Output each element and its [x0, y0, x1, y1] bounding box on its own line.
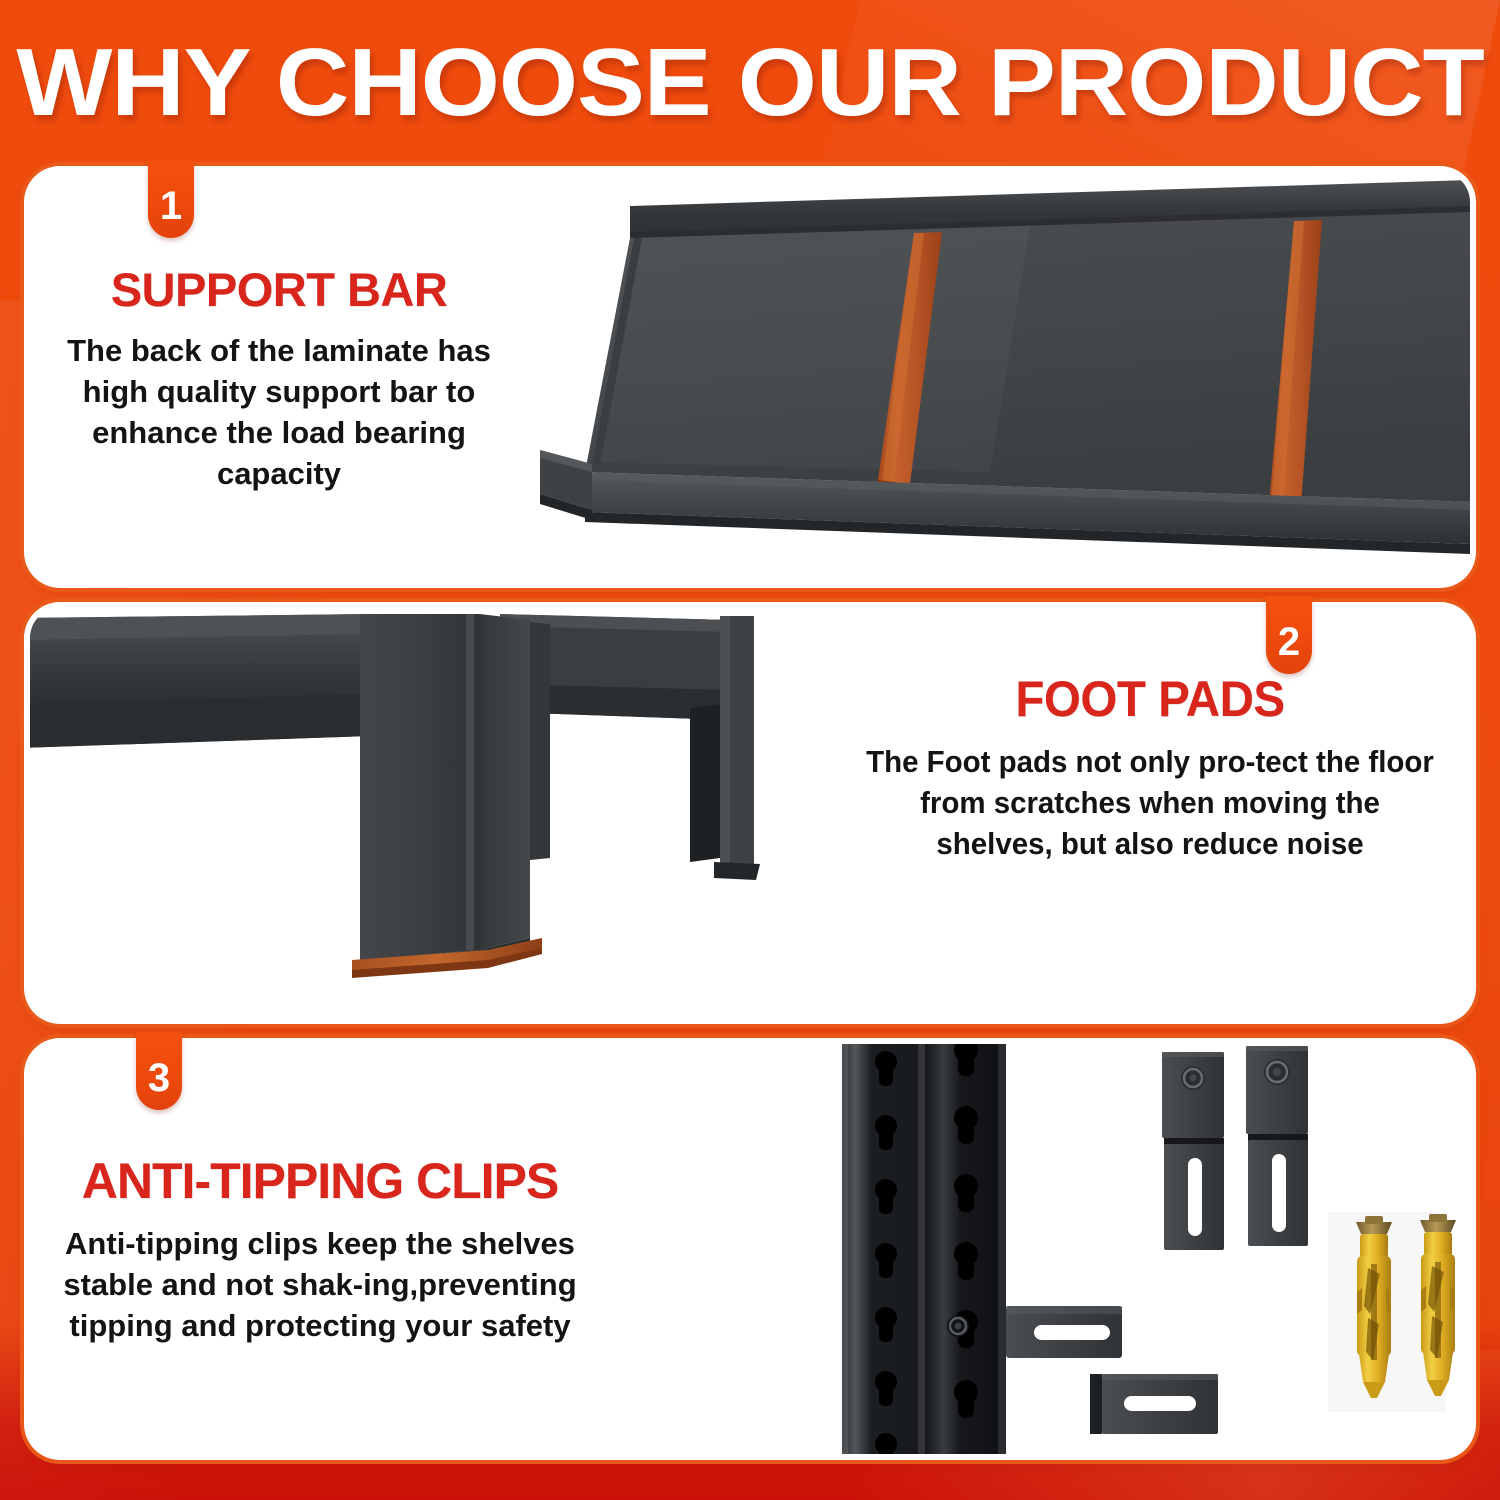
- anti-tipping-bracket-2: [1246, 1046, 1308, 1246]
- feature-body: The Foot pads not only pro-tect the floo…: [865, 742, 1435, 865]
- wall-anchor-2: [1420, 1214, 1456, 1396]
- anti-tipping-bracket-1: [1162, 1052, 1224, 1250]
- feature-card-anti-tipping-clips: ANTI-TIPPING CLIPS Anti-tipping clips ke…: [30, 1044, 1470, 1454]
- card-number-badge-2: 2: [1266, 596, 1312, 674]
- feature-heading: SUPPORT BAR: [44, 262, 514, 317]
- card-number-badge-3: 3: [136, 1032, 182, 1110]
- feature-card-support-bar: SUPPORT BAR The back of the laminate has…: [30, 172, 1470, 582]
- page-title: WHY CHOOSE OUR PRODUCT: [0, 28, 1500, 138]
- feature-card-body: ANTI-TIPPING CLIPS Anti-tipping clips ke…: [30, 1044, 1470, 1454]
- feature-body: The back of the laminate has high qualit…: [44, 331, 514, 495]
- feature-card-body: FOOT PADS The Foot pads not only pro-tec…: [30, 608, 1470, 1018]
- card-number-badge-1: 1: [148, 160, 194, 238]
- anti-tipping-bracket-3: [1090, 1374, 1218, 1434]
- feature-text-anti-tipping-clips: ANTI-TIPPING CLIPS Anti-tipping clips ke…: [40, 1152, 600, 1347]
- anti-tipping-clips-svg: [790, 1044, 1470, 1454]
- feature-body: Anti-tipping clips keep the shelves stab…: [40, 1224, 600, 1347]
- attached-clip: [1006, 1306, 1122, 1358]
- feature-text-support-bar: SUPPORT BAR The back of the laminate has…: [44, 262, 514, 495]
- feature-card-foot-pads: FOOT PADS The Foot pads not only pro-tec…: [30, 608, 1470, 1018]
- post-rivet: [947, 1315, 969, 1337]
- feature-card-body: SUPPORT BAR The back of the laminate has…: [30, 172, 1470, 582]
- feature-heading: FOOT PADS: [865, 670, 1435, 728]
- shelf-panel-svg: [510, 172, 1470, 582]
- shelf-legs-svg: [30, 608, 810, 1018]
- shelf-legs-image: [30, 608, 810, 1018]
- anti-tipping-clips-image: [790, 1044, 1470, 1454]
- feature-heading: ANTI-TIPPING CLIPS: [40, 1152, 600, 1210]
- feature-text-foot-pads: FOOT PADS The Foot pads not only pro-tec…: [850, 670, 1450, 865]
- shelf-panel-image: [510, 172, 1470, 582]
